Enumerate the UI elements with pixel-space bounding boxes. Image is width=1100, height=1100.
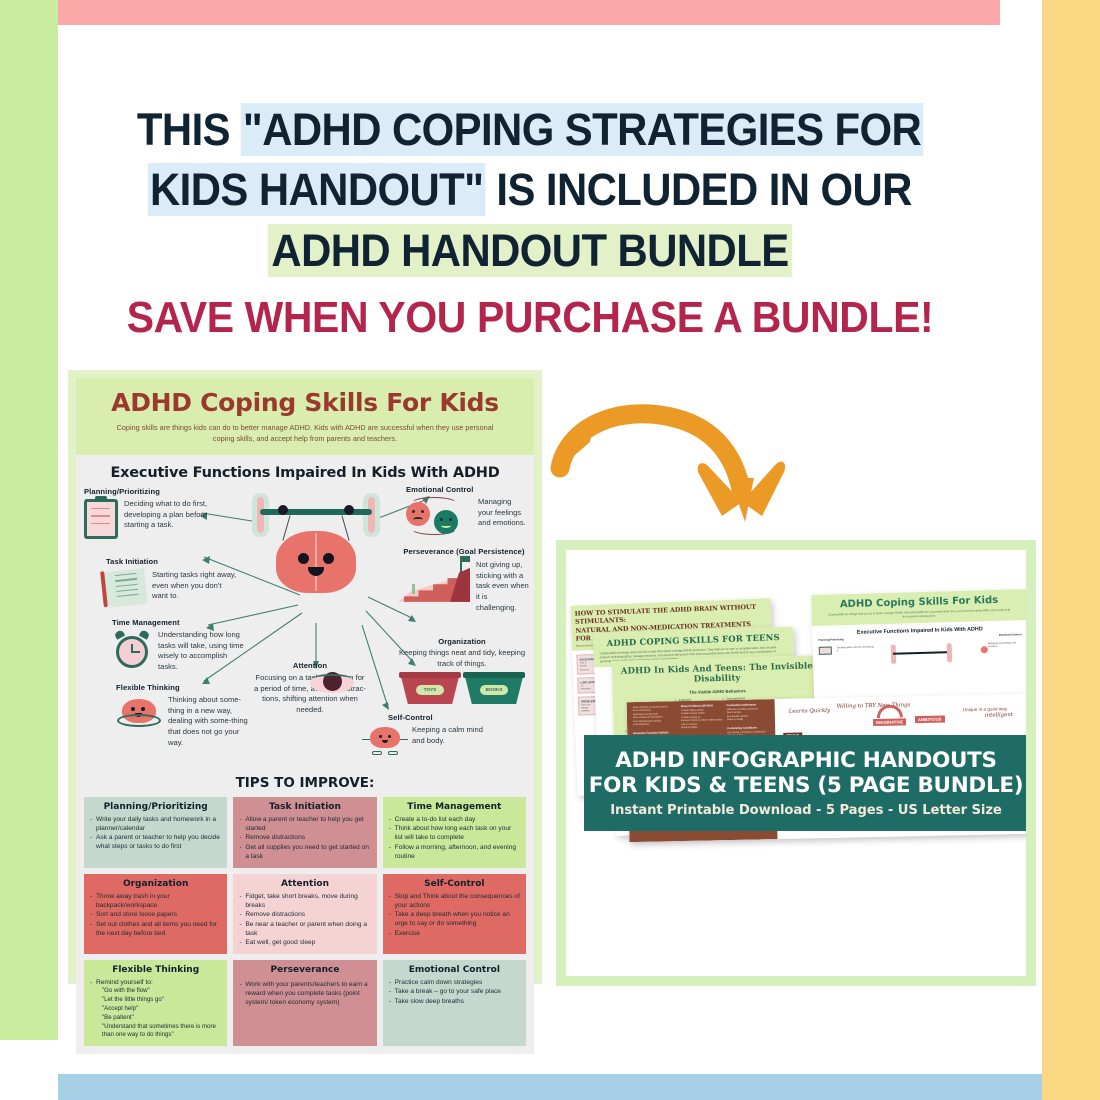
ef-desc-task-initiation: Starting tasks right away, even when you… (152, 570, 238, 602)
frame-bar-left (0, 0, 58, 1040)
page5-brown-item: Morning battles (681, 726, 697, 729)
tip-item: Fidget, take short breaks, move during b… (239, 892, 370, 910)
tip-quote: "Go with the flow" (90, 987, 221, 995)
tip-item: Think about how long each task on your l… (389, 824, 520, 842)
tip-item: Be near a teacher or parent when doing a… (239, 920, 370, 938)
tip-header: Emotional Control (389, 965, 520, 975)
ef-label-organization: Organization (394, 637, 530, 646)
banner-line-3: Instant Printable Download - 5 Pages - U… (610, 803, 1002, 818)
ef-label-planning: Planning/Prioritizing (84, 487, 236, 496)
ef-desc-perseverance: Not giving up, sticking with a task even… (476, 560, 530, 614)
headline-line-2: KIDS HANDOUT" IS INCLUDED IN OUR (112, 160, 949, 220)
headline-line-3-highlight: ADHD HANDOUT BUNDLE (268, 224, 793, 277)
clipboard-icon (84, 499, 118, 539)
alarm-clock-icon (112, 630, 152, 670)
headline-line-1-highlight: "ADHD COPING STRATEGIES FOR (241, 103, 923, 156)
executive-functions-diagram: Planning/Prioritizing Deciding what to d… (76, 485, 534, 771)
tip-card-attention[interactable]: Attention Fidget, take short breaks, mov… (233, 874, 376, 954)
tip-item: Exercise (389, 929, 520, 938)
tip-item: Ask a parent or teacher to help you deci… (90, 833, 221, 851)
tip-item: Get all supplies you need to get started… (239, 843, 370, 861)
ef-desc-planning: Deciding what to do first, developing a … (124, 499, 218, 531)
page3-title: ADHD In Kids And Teens: The Invisible Di… (618, 661, 816, 687)
page5-word: intelligent (985, 712, 1013, 719)
ef-desc-organization: Keeping things neat and tidy, keeping tr… (394, 648, 530, 670)
headline-save-cta: SAVE WHEN YOU PURCHASE A BUNDLE! (112, 291, 949, 345)
tip-item: Remove distractions (239, 833, 370, 842)
tip-header: Self-Control (389, 879, 520, 889)
tip-header: Planning/Prioritizing (90, 802, 221, 812)
ef-desc-self-control: Keeping a calm mind and body. (412, 725, 484, 747)
tip-item: Remind yourself to: (90, 978, 221, 987)
tip-header: Attention (239, 879, 370, 889)
tip-card-perseverance[interactable]: Perseverance Work with your parents/teac… (233, 960, 376, 1046)
headline-line-3: ADHD HANDOUT BUNDLE (112, 221, 949, 281)
ef-desc-emotional-control: Managing your feelings and emotions. (478, 497, 528, 529)
tip-item: Allow a parent or teacher to help you ge… (239, 815, 370, 833)
curved-down-right-arrow-icon (550, 398, 785, 533)
brain-hula-hoop-icon (116, 695, 162, 729)
tip-item: Take slow deep breaths (389, 997, 520, 1006)
tip-item: Follow a morning, afternoon, and evening… (389, 843, 520, 861)
handout-title: ADHD Coping Skills For Kids (90, 388, 520, 417)
tip-quote: "Let the little things go" (90, 996, 221, 1004)
banner-line-2: FOR KIDS & TEENS (5 PAGE BUNDLE) (589, 773, 1024, 798)
ef-label-time-management: Time Management (112, 618, 254, 627)
tip-item: Practice calm down strategies (389, 978, 520, 987)
handout-header: ADHD Coping Skills For Kids Coping skill… (76, 378, 534, 455)
ef-label-flexible-thinking: Flexible Thinking (116, 683, 262, 692)
tip-item: Take a deep breath when you notice an ur… (389, 910, 520, 928)
bundle-mockup[interactable]: HOW TO STIMULATE THE ADHD BRAIN WITHOUT … (556, 540, 1036, 986)
page5-word: IMAGINATIVE (873, 718, 906, 726)
tip-item: Stop and Think about the consequences of… (389, 892, 520, 910)
ef-desc-time-management: Understanding how long tasks will take, … (158, 630, 244, 673)
frame-bar-top (58, 0, 1000, 25)
tip-item: Eat well, get good sleep (239, 938, 370, 947)
tip-item: Work with your parents/teachers to earn … (239, 980, 370, 1007)
page4-subtitle: Coping skills are things kids can do to … (816, 608, 1023, 622)
tip-header: Perseverance (239, 965, 370, 975)
executive-functions-title: Executive Functions Impaired In Kids Wit… (76, 455, 534, 485)
tip-card-emotional-control[interactable]: Emotional Control Practice calm down str… (383, 960, 526, 1046)
headline-line-1: THIS "ADHD COPING STRATEGIES FOR (112, 100, 949, 160)
storage-bins-icon: TOYS BOOKS (394, 672, 530, 704)
calm-brain-icon (364, 725, 406, 755)
tip-card-time-management[interactable]: Time Management Create a to-do list each… (383, 797, 526, 868)
ef-label-emotional-control: Emotional Control (406, 485, 528, 494)
page5-word: Learns Quickly (789, 708, 830, 715)
tip-card-planning[interactable]: Planning/Prioritizing Write your daily t… (84, 797, 227, 868)
tip-card-organization[interactable]: Organization Throw away trash in your ba… (84, 874, 227, 954)
tip-quote: "Understand that sometimes there is more… (90, 1023, 221, 1040)
headline-line-2-highlight: KIDS HANDOUT" (148, 163, 485, 216)
tip-card-task-initiation[interactable]: Task Initiation Allow a parent or teache… (233, 797, 376, 868)
mountain-flag-icon (398, 560, 470, 602)
tip-item: Take a break – go to your safe place (389, 987, 520, 996)
ef-label-perseverance: Perseverance (Goal Persistence) (398, 547, 530, 556)
frame-bar-right (1042, 0, 1100, 1100)
brain-lifting-barbell-icon (252, 489, 380, 619)
headline-block: THIS "ADHD COPING STRATEGIES FOR KIDS HA… (80, 100, 980, 345)
tip-header: Task Initiation (239, 802, 370, 812)
tip-card-self-control[interactable]: Self-Control Stop and Think about the co… (383, 874, 526, 954)
banner-line-1: ADHD INFOGRAPHIC HANDOUTS (615, 748, 997, 773)
bin-label-toys: TOYS (416, 685, 444, 695)
ef-label-attention: Attention (254, 661, 366, 670)
emotion-faces-icon (406, 497, 472, 537)
tip-item: Remove distractions (239, 910, 370, 919)
tip-header: Flexible Thinking (90, 965, 221, 975)
tip-item: Set out clothes and all items you need f… (90, 920, 221, 938)
tip-card-flexible-thinking[interactable]: Flexible Thinking Remind yourself to: "G… (84, 960, 227, 1046)
tip-quote: "Accept help" (90, 1005, 221, 1013)
bin-label-books: BOOKS (480, 685, 508, 695)
adhd-coping-skills-handout[interactable]: ADHD Coping Skills For Kids Coping skill… (68, 370, 542, 984)
task-notepad-icon (104, 568, 148, 608)
tip-item: Create a to-do list each day (389, 815, 520, 824)
tip-header: Time Management (389, 802, 520, 812)
bundle-banner: ADHD INFOGRAPHIC HANDOUTS FOR KIDS & TEE… (584, 735, 1026, 831)
tips-to-improve-title: TIPS TO IMPROVE: (76, 771, 534, 797)
page5-brown-item: Gives up easily (727, 718, 743, 721)
handout-subtitle: Coping skills are things kids can do to … (90, 423, 520, 445)
tips-grid: Planning/Prioritizing Write your daily t… (76, 797, 534, 1054)
ef-label-task-initiation: Task Initiation (106, 557, 248, 566)
tip-quote: "Be patient" (90, 1014, 221, 1022)
tip-item: Sort and store loose papers (90, 910, 221, 919)
ef-label-self-control: Self-Control (364, 713, 516, 722)
page5-brown-item: Poor listening and reading comprehension (633, 719, 661, 726)
ef-desc-flexible-thinking: Thinking about some-thing in a new way, … (168, 695, 256, 749)
frame-bar-bottom (58, 1074, 1042, 1100)
tip-item: Throw away trash in your backpack/worksp… (90, 892, 221, 910)
page5-word: Unique in a good way (963, 706, 1007, 712)
tip-header: Organization (90, 879, 221, 889)
headline-line-1-pre: THIS (137, 104, 241, 155)
headline-line-2-post: IS INCLUDED IN OUR (485, 164, 912, 215)
page5-word: AMBITIOUS (915, 716, 945, 724)
tip-item: Write your daily tasks and homework in a… (90, 815, 221, 833)
